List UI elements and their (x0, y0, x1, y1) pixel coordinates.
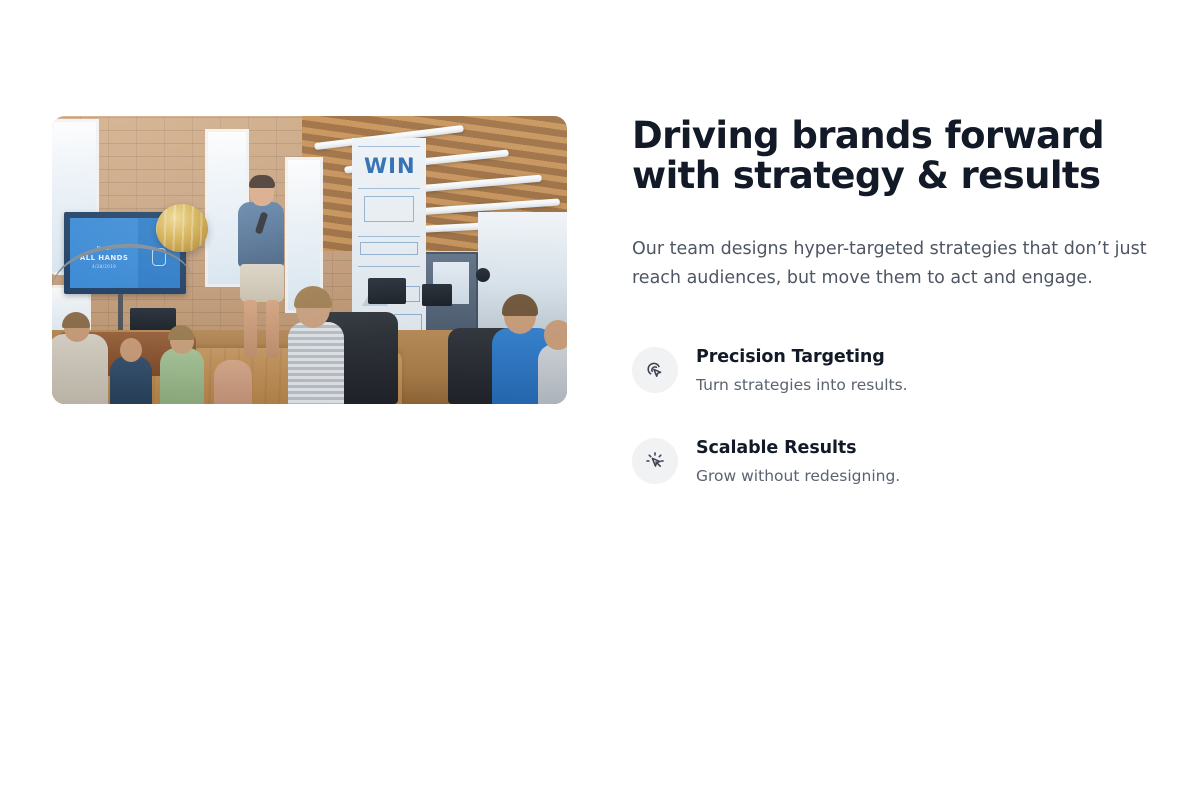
audience-member (52, 334, 108, 404)
presenter-hair (249, 175, 275, 188)
mural-win-text: WIN (364, 154, 416, 178)
presenter-shorts (240, 264, 284, 302)
feature-description: Grow without redesigning. (696, 466, 900, 486)
hero-content: Driving brands forward with strategy & r… (632, 116, 1148, 486)
office-meeting-photo: WIN Proof ALL HANDS (52, 116, 567, 404)
headline-line-1: Driving brands forward (632, 116, 1148, 156)
page-root: WIN Proof ALL HANDS (0, 0, 1200, 800)
feature-list: Precision Targeting Turn strategies into… (632, 345, 1148, 486)
hero-image: WIN Proof ALL HANDS (52, 116, 567, 404)
audience-member (160, 348, 204, 404)
feature-item-precision-targeting: Precision Targeting Turn strategies into… (632, 345, 1148, 395)
mural-sketch (364, 196, 414, 222)
feature-title: Precision Targeting (696, 346, 908, 368)
feature-description: Turn strategies into results. (696, 375, 908, 395)
feature-title: Scalable Results (696, 437, 900, 459)
audience-member (110, 356, 152, 404)
mural-divider (358, 146, 420, 147)
cursor-arrow-rays-icon (632, 438, 678, 484)
audience-member (214, 360, 252, 404)
presenter-leg (266, 300, 279, 358)
mural-banner (360, 242, 418, 255)
audience-head (544, 320, 567, 350)
audience-head (120, 338, 142, 362)
feature-text: Precision Targeting Turn strategies into… (696, 345, 908, 395)
audience-member (288, 322, 344, 404)
gold-pendant-lamp (156, 204, 208, 252)
monitor (422, 284, 452, 306)
cursor-click-icon (632, 347, 678, 393)
monitor (368, 278, 406, 304)
speaker-stand (476, 268, 490, 282)
presenter-leg (244, 300, 257, 358)
page-title: Driving brands forward with strategy & r… (632, 116, 1148, 196)
hero-subtitle: Our team designs hyper-targeted strategi… (632, 235, 1148, 293)
mural-divider (358, 266, 420, 267)
audience-member (538, 344, 567, 404)
headline-line-2: with strategy & results (632, 156, 1148, 196)
feature-text: Scalable Results Grow without redesignin… (696, 436, 900, 486)
feature-item-scalable-results: Scalable Results Grow without redesignin… (632, 436, 1148, 486)
hero-section: WIN Proof ALL HANDS (52, 116, 1148, 486)
mural-divider (358, 188, 420, 189)
mural-divider (358, 236, 420, 237)
